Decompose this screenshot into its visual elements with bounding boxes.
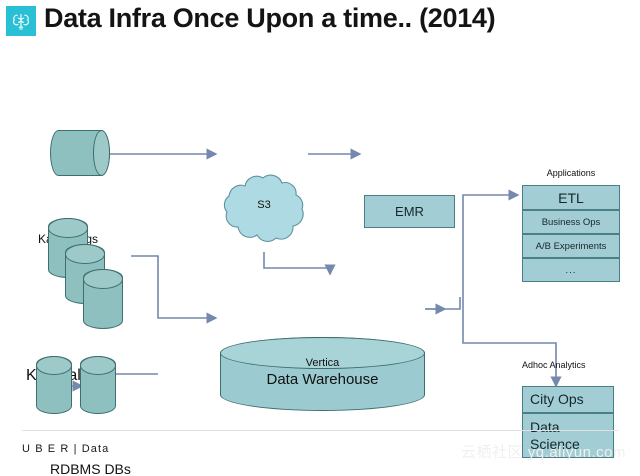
watermark: 云栖社区 yq.aliyun.com <box>461 441 626 462</box>
rdbms-dbs-label: RDBMS DBs <box>50 461 131 476</box>
slide-canvas: Data Infra Once Upon a time.. (2014) <box>0 0 640 476</box>
application-item-business-ops[interactable]: Business Ops <box>522 210 620 234</box>
s3-label: S3 <box>218 199 310 211</box>
data-warehouse-cylinder-top <box>220 337 425 369</box>
rdbms-cylinder-1 <box>36 356 72 414</box>
applications-caption: Applications <box>522 168 620 178</box>
emr-box[interactable]: EMR <box>364 195 455 228</box>
application-item-ab-experiments[interactable]: A/B Experiments <box>522 234 620 258</box>
application-item-etl[interactable]: ETL <box>522 185 620 210</box>
page-title: Data Infra Once Upon a time.. (2014) <box>44 3 495 34</box>
architecture-diagram: Kafka Logs Key-Val DB RDBMS DBs S3 EMR V… <box>0 56 640 428</box>
key-val-cylinder-3 <box>83 269 123 329</box>
adhoc-analytics-caption: Adhoc Analytics <box>522 360 620 370</box>
application-item-more[interactable]: ... <box>522 258 620 282</box>
footer-brand: U B E R | Data <box>22 443 109 455</box>
rdbms-cylinder-2 <box>80 356 116 414</box>
adhoc-item-city-ops[interactable]: City Ops <box>522 386 614 413</box>
kafka-logs-cylinder <box>50 130 110 176</box>
footer-divider <box>22 430 618 431</box>
brain-idea-icon <box>6 6 36 36</box>
